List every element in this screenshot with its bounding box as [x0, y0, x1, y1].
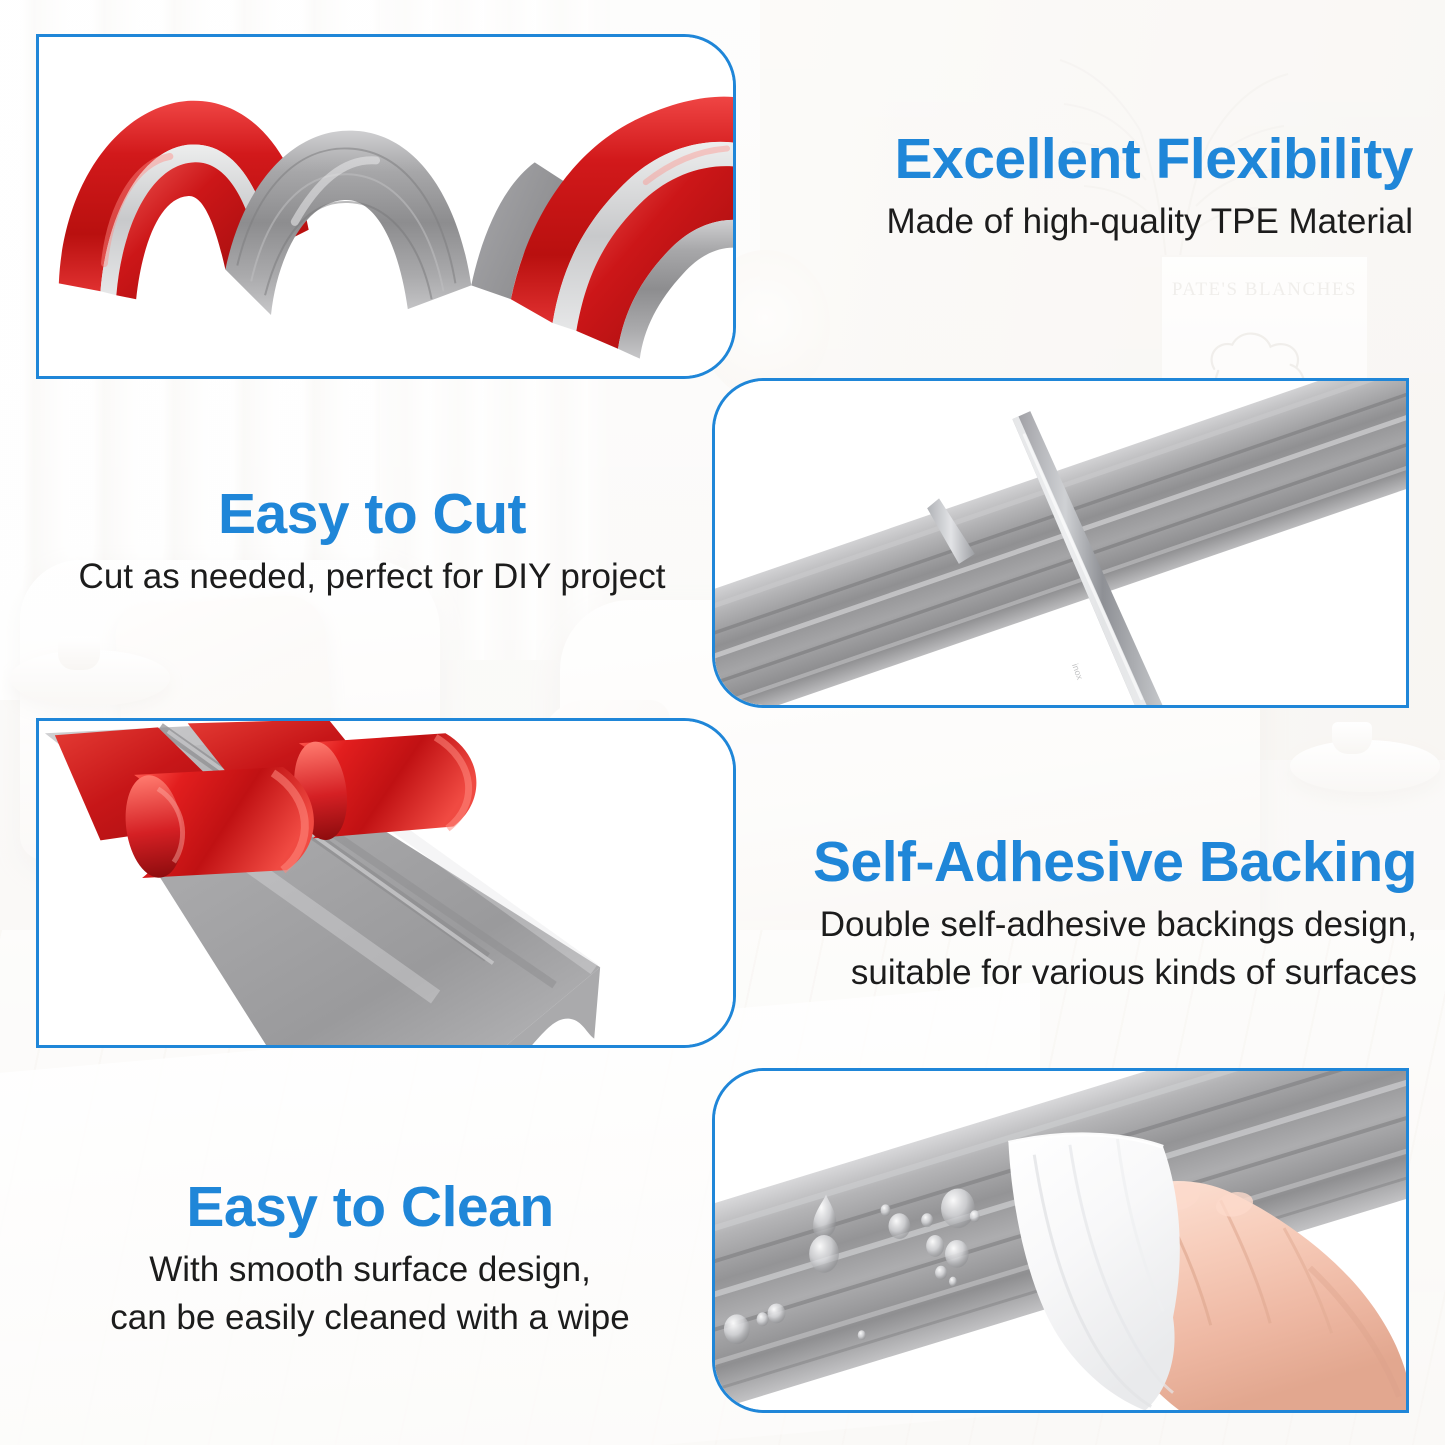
feature-text-easy-to-cut: Easy to Cut Cut as needed, perfect for D… — [36, 485, 708, 599]
feature-title-easy-to-clean: Easy to Clean — [34, 1178, 706, 1236]
feature-description-easy-to-cut-line-1: Cut as needed, perfect for DIY project — [36, 555, 708, 598]
feature-title-self-adhesive-backing: Self-Adhesive Backing — [813, 833, 1417, 891]
product-feature-infographic: PATE'S BLANCHES — [0, 0, 1445, 1445]
cutting-photo: inox — [715, 381, 1406, 705]
feature-text-easy-to-clean: Easy to Clean With smooth surface design… — [34, 1178, 706, 1339]
feature-text-self-adhesive-backing: Self-Adhesive Backing Double self-adhesi… — [813, 833, 1417, 994]
adhesive-photo — [39, 721, 733, 1045]
feature-panel-self-adhesive-backing — [36, 718, 736, 1048]
feature-panel-easy-to-cut: inox — [712, 378, 1409, 708]
feature-text-excellent-flexibility: Excellent Flexibility Made of high-quali… — [886, 130, 1413, 244]
feature-description-excellent-flexibility-line-1: Made of high-quality TPE Material — [886, 200, 1413, 243]
feature-title-excellent-flexibility: Excellent Flexibility — [886, 130, 1413, 188]
feature-title-easy-to-cut: Easy to Cut — [36, 485, 708, 543]
feature-description-easy-to-clean-line-2: can be easily cleaned with a wipe — [34, 1296, 706, 1339]
feature-panel-easy-to-clean — [712, 1068, 1409, 1413]
flexibility-photo — [39, 37, 733, 376]
feature-description-easy-to-clean-line-1: With smooth surface design, — [34, 1248, 706, 1291]
feature-panel-excellent-flexibility — [36, 34, 736, 379]
feature-description-self-adhesive-backing-line-1: Double self-adhesive backings design, — [813, 903, 1417, 946]
feature-description-self-adhesive-backing-line-2: suitable for various kinds of surfaces — [813, 951, 1417, 994]
cleaning-photo — [715, 1071, 1406, 1410]
